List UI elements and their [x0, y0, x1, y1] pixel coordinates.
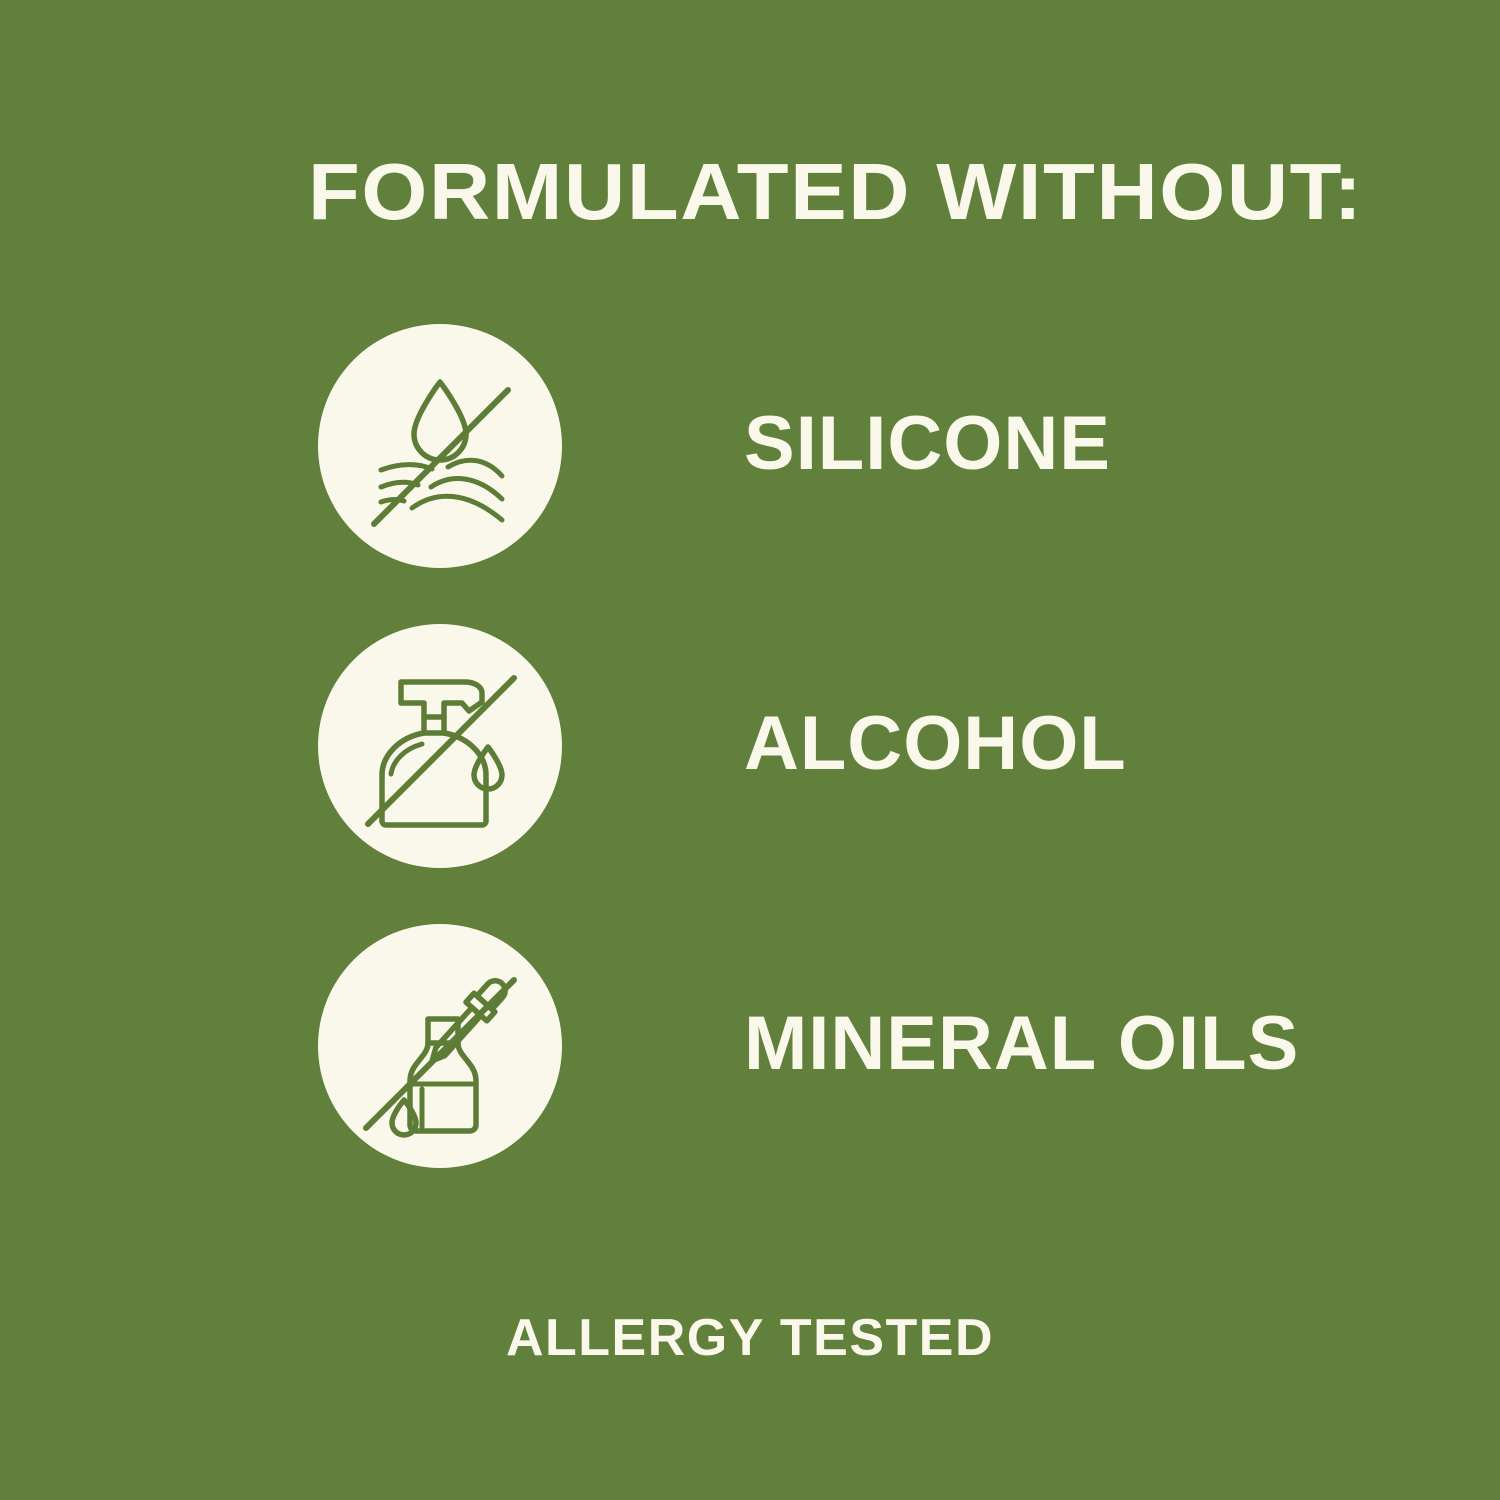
no-alcohol-pump-bottle-icon: [318, 624, 562, 868]
no-silicone-droplet-waves-icon: [318, 324, 562, 568]
page-title: FORMULATED WITHOUT:: [308, 152, 1262, 232]
list-item: SILICONE: [0, 322, 1500, 622]
allergy-tested-note: ALLERGY TESTED: [0, 1308, 1500, 1368]
formulated-without-poster: FORMULATED WITHOUT:: [0, 0, 1500, 1500]
list-item-label: ALCOHOL: [744, 622, 1127, 866]
claims-list: SILICONE: [0, 322, 1500, 1222]
list-item-label: MINERAL OILS: [744, 922, 1299, 1166]
list-item-label: SILICONE: [744, 322, 1111, 566]
list-item: ALCOHOL: [0, 622, 1500, 922]
list-item: MINERAL OILS: [0, 922, 1500, 1222]
no-mineral-oils-dropper-bottle-icon: [318, 924, 562, 1168]
